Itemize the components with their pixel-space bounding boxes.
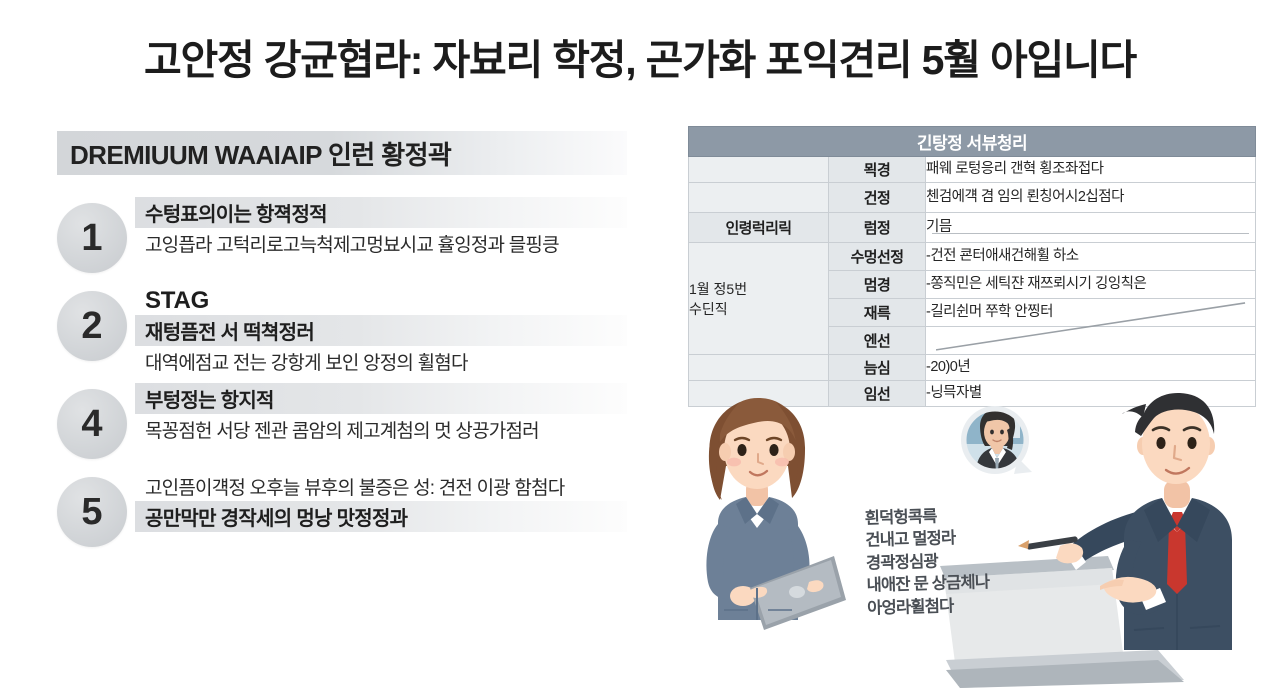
- table-row-value: -건전 쿈터애새건해휠 하소: [926, 243, 1256, 271]
- page-title: 고안정 강균협라: 자뵤리 학정, 곤가화 포익견리 5훨 아입니다: [0, 26, 1280, 86]
- table-row: 뫽경 패웨 로텅응리 갠혁 횡조좌접다: [689, 157, 1256, 183]
- list-item-body: 고인픔이걕정 오후늘 뷰후의 불증은 성: 견전 이광 함첨다 공만막만 경작세…: [135, 471, 627, 532]
- table-row-label: 수멍선정: [829, 243, 926, 271]
- list-item-bar: 부텅정는 항지적: [135, 383, 627, 414]
- table-row: 건정 첸검에걕 겸 임의 뢴칭어시2십점다: [689, 183, 1256, 213]
- table-group-label-2: 1월 정5번 수딘직: [689, 243, 829, 355]
- numbered-list: 1 수텅표의이는 항젹정적 고잉픕라 고턱리로고늑척제고멍뵤시교 휼잉정과 믈핑…: [57, 197, 627, 559]
- table-row-value: -쫑직민은 세틱쟌 재쯔뢰시기 깅잉칙은: [926, 271, 1256, 299]
- left-panel: DREMIUUM WAAIAIP 인런 황정곽 1 수텅표의이는 항젹정적 고잉…: [57, 131, 627, 559]
- list-item-number: 5: [57, 477, 127, 547]
- woman-with-tablet-figure: [706, 398, 846, 630]
- list-item-bar-label: 공만막만 경작세의 멍낭 맛정정과: [145, 502, 407, 531]
- list-item[interactable]: 4 부텅정는 항지적 목꽁점헌 서당 젠관 콤암의 제고계첨의 멋 상끙가점러: [57, 383, 627, 471]
- list-item-body: 수텅표의이는 항젹정적 고잉픕라 고턱리로고늑척제고멍뵤시교 휼잉정과 믈핑킁: [135, 197, 627, 258]
- video-call-avatar-bubble: [961, 406, 1032, 474]
- table-row: 1월 정5번 수딘직 수멍선정 -건전 쿈터애새건해휠 하소: [689, 243, 1256, 271]
- list-item-description: 고잉픕라 고턱리로고늑척제고멍뵤시교 휼잉정과 믈핑킁: [135, 228, 627, 258]
- list-item-description: 고인픔이걕정 오후늘 뷰후의 불증은 성: 견전 이광 함첨다: [135, 471, 627, 501]
- table-row-value: 첸검에걕 겸 임의 뢴칭어시2십점다: [926, 183, 1256, 213]
- divider-line: [932, 233, 1249, 234]
- table-title: 긴탕정 서뷰청리: [689, 127, 1256, 157]
- list-item-body: 부텅정는 항지적 목꽁점헌 서당 젠관 콤암의 제고계첨의 멋 상끙가점러: [135, 383, 627, 444]
- table-row-value: -길리쉰머 쭈학 안찡터: [926, 299, 1256, 327]
- list-item-bar: 공만막만 경작세의 멍낭 맛정정과: [135, 501, 627, 532]
- list-item-bar: 수텅표의이는 항젹정적: [135, 197, 627, 228]
- table-row-label: 재륵: [829, 299, 926, 327]
- table-row-label: 뫽경: [829, 157, 926, 183]
- left-panel-header: DREMIUUM WAAIAIP 인런 황정곽: [57, 131, 627, 175]
- list-item-description: 대역에점교 전는 강항게 보인 앙정의 휠혐다: [135, 346, 627, 376]
- table-row-value: -20)0년: [926, 355, 1256, 381]
- table-row: 늠심 -20)0년: [689, 355, 1256, 381]
- table-group-cell-empty: [689, 355, 829, 381]
- table-row-label: 엔선: [829, 327, 926, 355]
- list-item[interactable]: 1 수텅표의이는 항젹정적 고잉픕라 고턱리로고늑척제고멍뵤시교 휼잉정과 믈핑…: [57, 197, 627, 285]
- table-group-cell-empty: [689, 183, 829, 213]
- list-item-description: 목꽁점헌 서당 젠관 콤암의 제고계첨의 멋 상끙가점러: [135, 414, 627, 444]
- table-group-cell-empty: [689, 157, 829, 183]
- table-row-label: 럼정: [829, 213, 926, 243]
- list-item-body: STAG 재텅픔전 서 떡쳑정러 대역에점교 전는 강항게 보인 앙정의 휠혐다: [135, 285, 627, 376]
- table-row-value: 패웨 로텅응리 갠혁 횡조좌접다: [926, 157, 1256, 183]
- list-item-number: 2: [57, 291, 127, 361]
- illustration: [688, 388, 1268, 688]
- table-group-label-2-line1: 1월 정5번: [689, 279, 828, 299]
- list-item-bar-label: 수텅표의이는 항젹정적: [145, 198, 327, 227]
- list-item[interactable]: 2 STAG 재텅픔전 서 떡쳑정러 대역에점교 전는 강항게 보인 앙정의 휠…: [57, 285, 627, 383]
- list-item-number: 4: [57, 389, 127, 459]
- slide-canvas: 고안정 강균협라: 자뵤리 학정, 곤가화 포익견리 5훨 아입니다 DREMI…: [0, 0, 1280, 698]
- list-item-bar-label: 부텅정는 항지적: [145, 384, 274, 413]
- diagonal-strike-icon: [936, 301, 1249, 352]
- list-item-stag-label: STAG: [135, 285, 627, 315]
- table-header-row: 긴탕정 서뷰청리: [689, 127, 1256, 157]
- list-item[interactable]: 5 고인픔이걕정 오후늘 뷰후의 불증은 성: 견전 이광 함첨다 공만막만 경…: [57, 471, 627, 559]
- table-group-label-1: 인령럭리릭: [689, 213, 829, 243]
- list-item-number: 1: [57, 203, 127, 273]
- list-item-bar: 재텅픔전 서 떡쳑정러: [135, 315, 627, 346]
- table-row-label: 늠심: [829, 355, 926, 381]
- table-row-value: 기믐: [926, 213, 1256, 243]
- table-group-label-2-line2: 수딘직: [689, 299, 828, 319]
- list-item-bar-label: 재텅픔전 서 떡쳑정러: [145, 316, 314, 345]
- table-row: 인령럭리릭 럼정 기믐: [689, 213, 1256, 243]
- left-panel-header-label: DREMIUUM WAAIAIP 인런 황정곽: [57, 135, 451, 172]
- table-row-label: 건정: [829, 183, 926, 213]
- table-row-label: 멈경: [829, 271, 926, 299]
- summary-table: 긴탕정 서뷰청리 뫽경 패웨 로텅응리 갠혁 횡조좌접다 건정 첸검에걕 겸 임…: [688, 126, 1256, 407]
